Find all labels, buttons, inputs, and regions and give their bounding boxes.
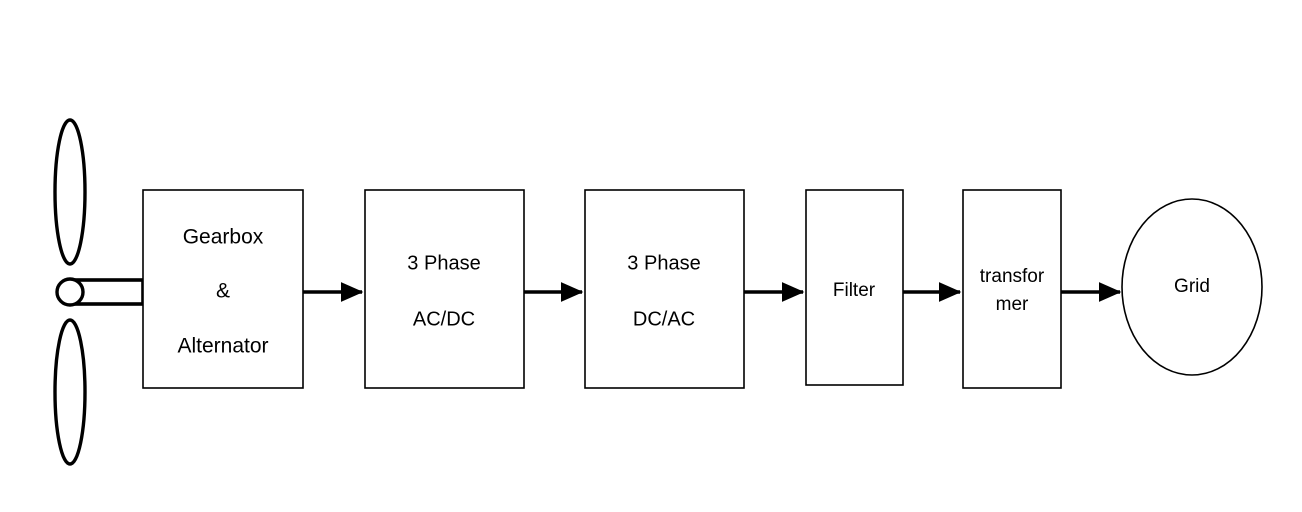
turbine-blade-lower-icon xyxy=(55,320,85,464)
node-gearbox-label-line3: Alternator xyxy=(177,335,268,358)
diagram-canvas: Gearbox & Alternator 3 Phase AC/DC 3 Pha… xyxy=(0,0,1302,512)
node-filter-label: Filter xyxy=(833,280,876,301)
node-dc-ac-label-line2: DC/AC xyxy=(633,308,695,330)
node-transformer-label-line1: transfor xyxy=(980,266,1045,287)
node-ac-dc-label-line2: AC/DC xyxy=(413,308,475,330)
power-conversion-diagram: Gearbox & Alternator 3 Phase AC/DC 3 Pha… xyxy=(0,0,1302,512)
node-grid[interactable]: Grid xyxy=(1122,199,1262,375)
node-ac-dc-converter[interactable]: 3 Phase AC/DC xyxy=(365,190,524,388)
node-transformer-box[interactable] xyxy=(963,190,1061,388)
wind-turbine-icon xyxy=(55,120,143,464)
node-transformer-label-line2: mer xyxy=(996,294,1029,315)
turbine-blade-upper-icon xyxy=(55,120,85,264)
turbine-hub-icon xyxy=(57,279,83,305)
node-ac-dc-box[interactable] xyxy=(365,190,524,388)
node-gearbox-label-line1: Gearbox xyxy=(183,226,264,249)
node-dc-ac-box[interactable] xyxy=(585,190,744,388)
node-gearbox[interactable]: Gearbox & Alternator xyxy=(143,190,303,388)
node-gearbox-label-line2: & xyxy=(216,280,230,303)
node-transformer[interactable]: transfor mer xyxy=(963,190,1061,388)
node-dc-ac-inverter[interactable]: 3 Phase DC/AC xyxy=(585,190,744,388)
node-ac-dc-label-line1: 3 Phase xyxy=(407,252,480,274)
node-grid-label: Grid xyxy=(1174,276,1210,297)
node-dc-ac-label-line1: 3 Phase xyxy=(627,252,700,274)
node-filter[interactable]: Filter xyxy=(806,190,903,385)
